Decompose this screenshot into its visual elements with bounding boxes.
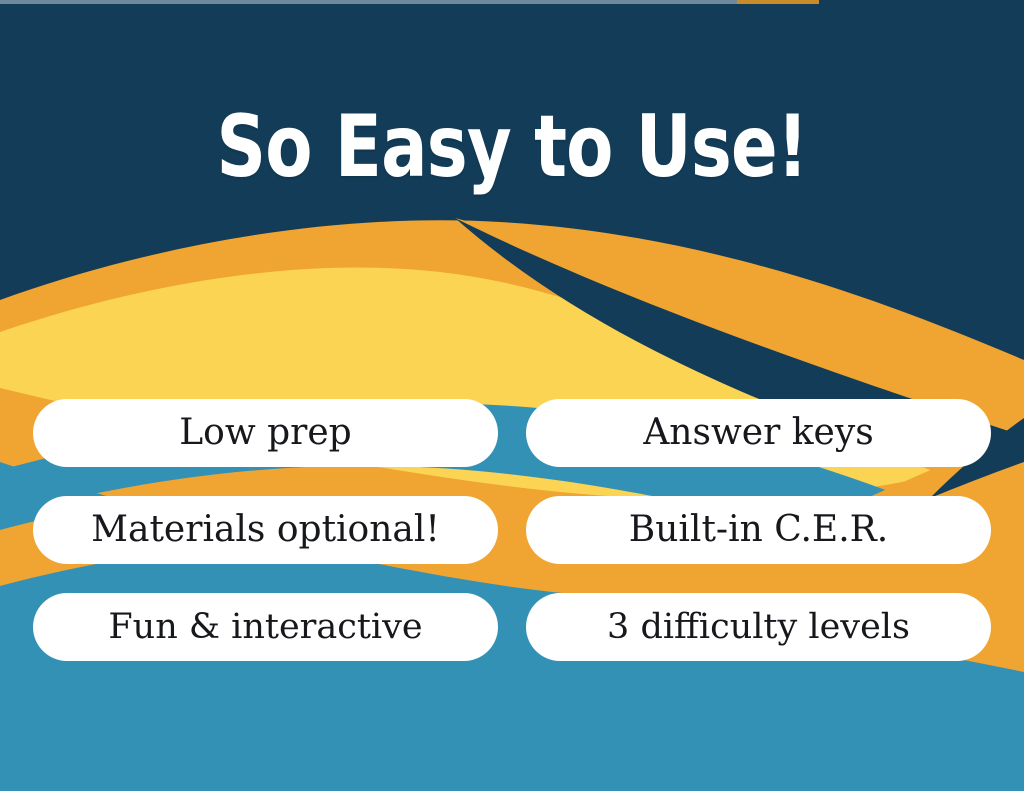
slide-canvas: So Easy to Use! Low prep Answer keys Mat… — [0, 0, 1024, 791]
feature-pill-fun-interactive[interactable]: Fun & interactive — [33, 593, 498, 661]
feature-pill-label: Built-in C.E.R. — [629, 512, 888, 548]
feature-pill-answer-keys[interactable]: Answer keys — [526, 399, 991, 467]
feature-pill-3-difficulty-levels[interactable]: 3 difficulty levels — [526, 593, 991, 661]
feature-pill-label: Low prep — [179, 415, 351, 451]
progress-strip-remainder — [819, 0, 1024, 4]
feature-pill-built-in-cer[interactable]: Built-in C.E.R. — [526, 496, 991, 564]
top-progress-strip — [0, 0, 1024, 4]
feature-pill-grid: Low prep Answer keys Materials optional!… — [33, 399, 991, 661]
page-title: So Easy to Use! — [102, 102, 921, 192]
progress-strip-orange-segment — [737, 0, 819, 4]
feature-pill-materials-optional[interactable]: Materials optional! — [33, 496, 498, 564]
feature-pill-label: Answer keys — [643, 415, 873, 451]
feature-pill-label: Materials optional! — [91, 512, 440, 548]
progress-strip-gray-segment — [0, 0, 737, 4]
feature-pill-label: Fun & interactive — [108, 610, 422, 645]
feature-pill-low-prep[interactable]: Low prep — [33, 399, 498, 467]
feature-pill-label: 3 difficulty levels — [607, 610, 910, 645]
